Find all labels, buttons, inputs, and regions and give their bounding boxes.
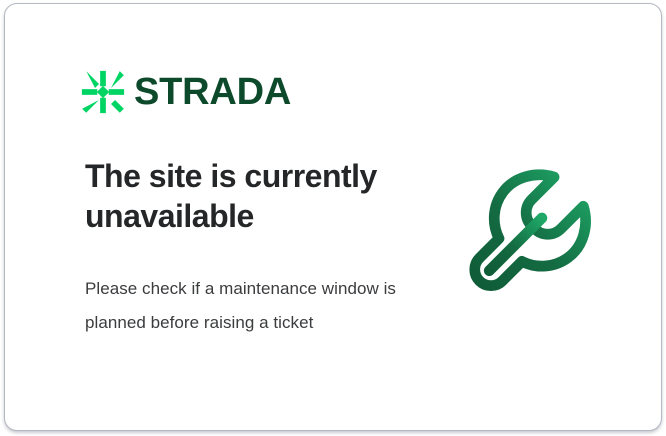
strada-asterisk-icon: [81, 70, 125, 114]
page-description: Please check if a maintenance window is …: [85, 272, 405, 340]
status-card: STRADA The site is currently unavailable…: [4, 3, 662, 431]
error-page: STRADA The site is currently unavailable…: [0, 0, 666, 436]
page-title: The site is currently unavailable: [85, 156, 415, 236]
wrench-icon: [460, 160, 616, 316]
brand-lockup: STRADA: [81, 70, 291, 114]
brand-wordmark: STRADA: [134, 73, 291, 111]
